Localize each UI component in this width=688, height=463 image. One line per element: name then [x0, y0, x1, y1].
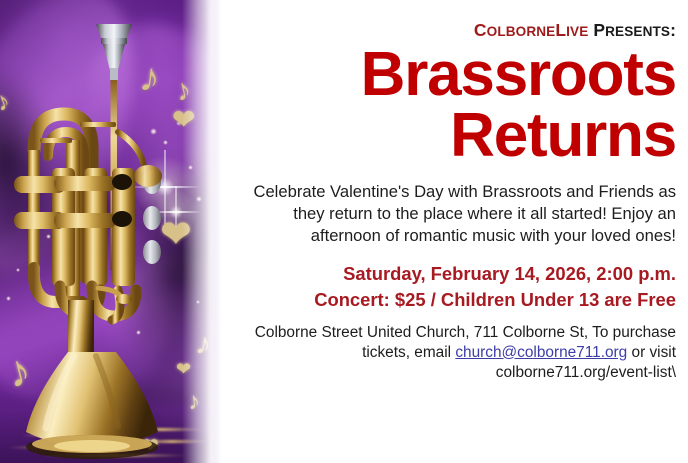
presenter-brand: COLBORNELIVE: [474, 20, 589, 40]
event-description: Celebrate Valentine's Day with Brassroot…: [230, 181, 676, 247]
presenter-suffix: PRESENTS:: [593, 20, 676, 40]
title-line-1: Brassroots: [361, 40, 676, 109]
venue-middle: or visit: [627, 344, 676, 361]
event-price: Concert: $25 / Children Under 13 are Fre…: [230, 288, 676, 312]
poster-artwork: ♪ ♪ ♪ ❤ ❤ ❤ ❤ ♪ ♪ ♪: [0, 0, 222, 463]
page-title: Brassroots Returns: [230, 45, 676, 167]
artwork-edge-glow: [206, 0, 222, 463]
event-poster: ♪ ♪ ♪ ❤ ❤ ❤ ❤ ♪ ♪ ♪: [0, 0, 688, 463]
event-date-time: Saturday, February 14, 2026, 2:00 p.m.: [230, 262, 676, 286]
website-url: colborne711.org/event-list\: [496, 364, 676, 381]
title-line-2: Returns: [230, 106, 676, 167]
poster-text-column: COLBORNELIVE PRESENTS: Brassroots Return…: [222, 0, 688, 463]
presenter-line: COLBORNELIVE PRESENTS:: [230, 20, 676, 41]
email-link[interactable]: church@colborne711.org: [455, 344, 627, 361]
venue-contact-block: Colborne Street United Church, 711 Colbo…: [230, 323, 676, 383]
